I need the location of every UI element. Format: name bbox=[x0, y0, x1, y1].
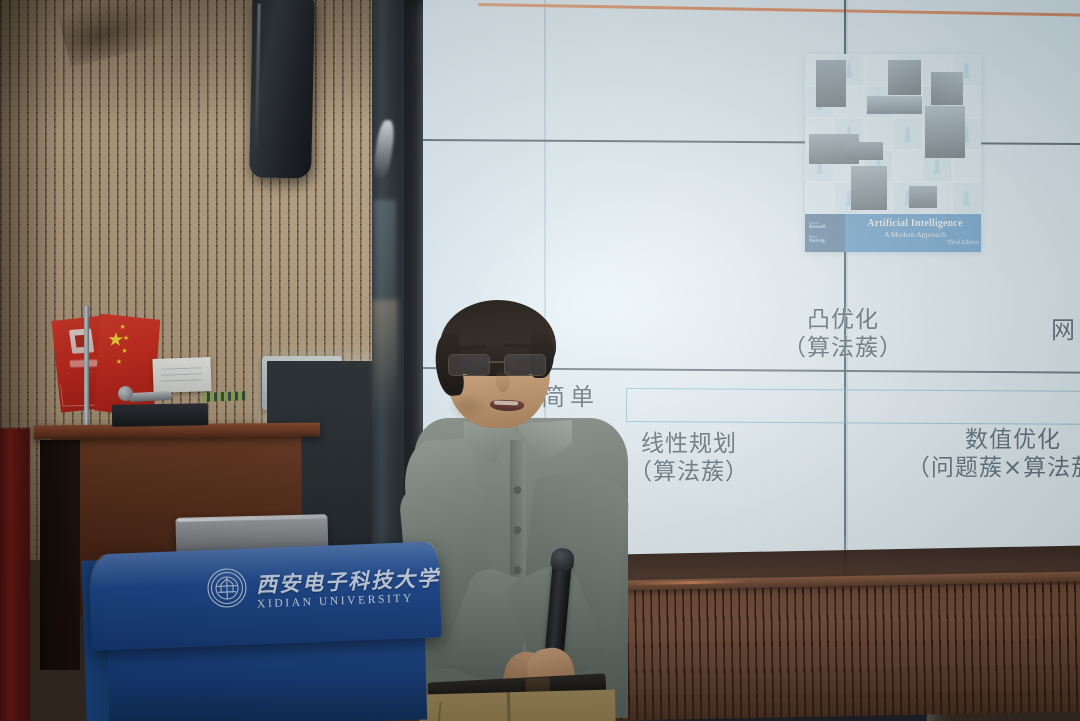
desk-microphone-head bbox=[118, 386, 133, 401]
lecture-photo-scene: ★ ★ ★ ★ ★ bbox=[0, 0, 1080, 721]
desk-equipment bbox=[112, 403, 208, 427]
presenter-trousers bbox=[419, 689, 617, 721]
slide-label-numerical-optimization: 数值优化 （问题蔟×算法蔟） bbox=[873, 426, 1080, 482]
book-photo-2 bbox=[888, 60, 921, 95]
wall-monitor bbox=[262, 356, 342, 410]
trouser-crease bbox=[507, 692, 512, 721]
book-photo-9 bbox=[909, 186, 937, 208]
glass-highlight-3 bbox=[372, 300, 398, 420]
paper-writing bbox=[161, 367, 202, 382]
flag-star-2: ★ bbox=[123, 335, 130, 342]
book-subtitle: A Modern Approach bbox=[851, 230, 979, 239]
flag-stand bbox=[84, 306, 89, 426]
book-photo-4 bbox=[925, 106, 965, 158]
presenter-cheek-shadow bbox=[448, 392, 488, 422]
flag-star-4: ★ bbox=[116, 359, 123, 366]
book-photo-7 bbox=[851, 166, 887, 210]
book-photo-6 bbox=[845, 142, 883, 160]
book-photo-1 bbox=[816, 60, 846, 107]
china-national-flag: ★ ★ ★ ★ ★ bbox=[93, 314, 160, 419]
convex-optimization-line2: （算法蔟） bbox=[753, 334, 933, 362]
slide-horizontal-axis-upper bbox=[423, 139, 1080, 145]
glasses-lens-right bbox=[504, 354, 546, 376]
slide-label-network-optimization: 网 bbox=[1051, 316, 1080, 345]
red-curtain bbox=[0, 428, 30, 721]
book-edition: Third Edition bbox=[851, 240, 981, 246]
shirt-button-1 bbox=[514, 486, 521, 493]
organization-flag-emblem bbox=[69, 329, 94, 354]
slide-accent-line bbox=[478, 3, 1080, 17]
book-author-block bbox=[805, 214, 845, 252]
rail-highlight bbox=[630, 580, 750, 585]
glasses-bridge bbox=[488, 361, 504, 363]
book-title: Artificial Intelligence bbox=[851, 218, 979, 229]
convex-optimization-line1: 凸优化 bbox=[753, 306, 933, 334]
microphone-head bbox=[550, 547, 575, 571]
flag-star-3: ★ bbox=[121, 348, 128, 355]
numerical-optimization-line2: （问题蔟×算法蔟） bbox=[873, 454, 1080, 482]
presenter-nose bbox=[496, 368, 510, 392]
book-author-one: StuartRussell bbox=[809, 221, 826, 230]
xidian-university-emblem bbox=[204, 565, 250, 611]
shirt-button-3 bbox=[514, 566, 521, 573]
presenter bbox=[400, 300, 640, 721]
desk-connector-strip bbox=[203, 391, 247, 402]
numerical-optimization-line1: 数值优化 bbox=[873, 426, 1080, 454]
glasses-lens-left bbox=[448, 354, 490, 376]
trouser-pocket bbox=[436, 702, 487, 721]
aima-book-cover: StuartRussell PeterNorvig Artificial Int… bbox=[805, 54, 981, 252]
presenter-teeth bbox=[494, 401, 518, 406]
book-photo-3 bbox=[931, 72, 963, 105]
speaker-edge-highlight bbox=[255, 3, 261, 153]
glass-highlight-1 bbox=[372, 119, 396, 181]
flag-star-1: ★ bbox=[119, 324, 126, 331]
book-photo-8 bbox=[867, 96, 922, 114]
slide-outlined-box bbox=[626, 388, 1080, 425]
slide-label-convex-optimization: 凸优化 （算法蔟） bbox=[753, 306, 933, 362]
desk-paper bbox=[152, 357, 211, 393]
back-table-side-shadow bbox=[40, 440, 80, 670]
book-title-band: StuartRussell PeterNorvig Artificial Int… bbox=[805, 214, 981, 252]
wall-speaker bbox=[249, 0, 315, 179]
book-author-two: PeterNorvig bbox=[809, 235, 825, 244]
shirt-button-2 bbox=[514, 526, 521, 533]
